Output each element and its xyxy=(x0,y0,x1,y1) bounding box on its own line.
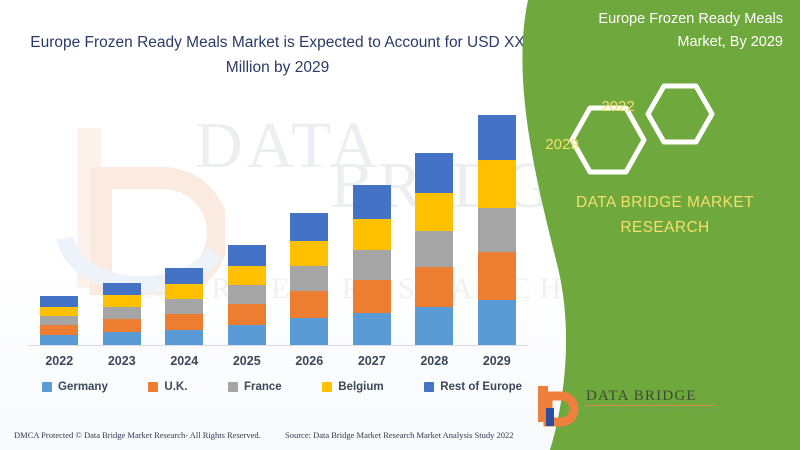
brand-panel-title: Europe Frozen Ready Meals Market, By 202… xyxy=(568,8,783,54)
bar-segment xyxy=(40,335,78,345)
legend-item[interactable]: Belgium xyxy=(322,381,383,393)
bar-segment xyxy=(228,245,266,266)
bar-segment xyxy=(228,304,266,325)
bar-segment xyxy=(415,267,453,307)
x-axis-line xyxy=(28,345,528,346)
legend-swatch-icon xyxy=(148,382,158,392)
bar-segment xyxy=(103,332,141,345)
hexagon-2029-label: 2029 xyxy=(532,136,592,153)
legend-label: U.K. xyxy=(164,381,187,393)
logo-divider xyxy=(586,405,714,406)
bar-segment xyxy=(40,307,78,316)
legend-label: France xyxy=(244,381,282,393)
bar-segment xyxy=(290,291,328,318)
legend-label: Belgium xyxy=(338,381,383,393)
legend-item[interactable]: U.K. xyxy=(148,381,187,393)
bar-segment xyxy=(353,219,391,250)
x-axis-label: 2024 xyxy=(154,354,214,368)
hexagon-2022 xyxy=(648,86,712,142)
bar-segment xyxy=(353,250,391,280)
bar-segment xyxy=(103,307,141,319)
x-axis-label: 2028 xyxy=(404,354,464,368)
legend-swatch-icon xyxy=(322,382,332,392)
bar-group xyxy=(165,268,203,345)
x-axis-labels: 20222023202420252026202720282029 xyxy=(28,354,528,374)
hexagon-2022-label: 2022 xyxy=(588,98,648,115)
bar-segment xyxy=(353,185,391,219)
bar-group xyxy=(353,185,391,345)
brand-title-line2: Market, By 2029 xyxy=(677,34,783,50)
bar-segment xyxy=(228,325,266,345)
footer: DMCA Protected © Data Bridge Market Rese… xyxy=(0,428,560,450)
bar-segment xyxy=(40,325,78,335)
bar-group xyxy=(40,296,78,345)
legend-item[interactable]: Rest of Europe xyxy=(424,381,522,393)
data-bridge-logo: DATA BRIDGE MARKET RESEARCH PVT LTD xyxy=(528,382,728,430)
chart-title: Europe Frozen Ready Meals Market is Expe… xyxy=(30,30,525,80)
legend-swatch-icon xyxy=(42,382,52,392)
logo-wordmark: DATA BRIDGE xyxy=(586,388,697,405)
logo-tagline: MARKET RESEARCH PVT LTD xyxy=(587,407,719,413)
bar-segment xyxy=(103,283,141,295)
x-axis-label: 2027 xyxy=(342,354,402,368)
bar-segment xyxy=(165,314,203,330)
bar-segment xyxy=(165,330,203,345)
bar-segment xyxy=(165,299,203,314)
dmca-notice: DMCA Protected © Data Bridge Market Rese… xyxy=(14,430,261,440)
brand-panel: Europe Frozen Ready Meals Market, By 202… xyxy=(510,0,800,450)
bar-segment xyxy=(40,316,78,325)
bar-segment xyxy=(290,213,328,241)
bar-segment xyxy=(415,231,453,267)
bar-segment xyxy=(228,266,266,285)
source-note: Source: Data Bridge Market Research Mark… xyxy=(285,430,514,440)
bar-group xyxy=(103,283,141,345)
legend-label: Germany xyxy=(58,381,108,393)
x-axis-label: 2025 xyxy=(217,354,277,368)
stacked-bar-chart xyxy=(28,100,528,346)
bar-segment xyxy=(103,295,141,307)
bar-segment xyxy=(40,296,78,307)
bar-segment xyxy=(103,319,141,332)
bar-segment xyxy=(290,241,328,266)
x-axis-label: 2022 xyxy=(29,354,89,368)
chart-legend: GermanyU.K.FranceBelgiumRest of Europe xyxy=(28,381,528,393)
bar-segment xyxy=(415,307,453,345)
brand-name: DATA BRIDGE MARKET RESEARCH xyxy=(550,190,780,240)
bar-segment xyxy=(290,318,328,345)
bar-segment xyxy=(353,280,391,313)
bar-group xyxy=(290,213,328,345)
bar-segment xyxy=(165,268,203,284)
infographic-root: DATA BRIDGE MARKET RESEARCH Europe Froze… xyxy=(0,0,800,450)
bar-segment xyxy=(228,285,266,304)
bar-segment xyxy=(165,284,203,299)
bar-segment xyxy=(415,153,453,193)
bar-segment xyxy=(290,266,328,291)
legend-item[interactable]: Germany xyxy=(42,381,108,393)
chart-panel: DATA BRIDGE MARKET RESEARCH Europe Froze… xyxy=(0,0,560,450)
legend-swatch-icon xyxy=(424,382,434,392)
x-axis-label: 2026 xyxy=(279,354,339,368)
bar-group xyxy=(228,245,266,345)
bar-segment xyxy=(353,313,391,345)
brand-name-line1: DATA BRIDGE MARKET xyxy=(576,194,754,211)
legend-swatch-icon xyxy=(228,382,238,392)
brand-title-line1: Europe Frozen Ready Meals xyxy=(598,11,783,27)
bar-group xyxy=(415,153,453,345)
logo-mark-icon xyxy=(528,382,586,430)
brand-name-line2: RESEARCH xyxy=(620,219,709,236)
x-axis-label: 2023 xyxy=(92,354,152,368)
legend-item[interactable]: France xyxy=(228,381,282,393)
bar-segment xyxy=(415,193,453,231)
